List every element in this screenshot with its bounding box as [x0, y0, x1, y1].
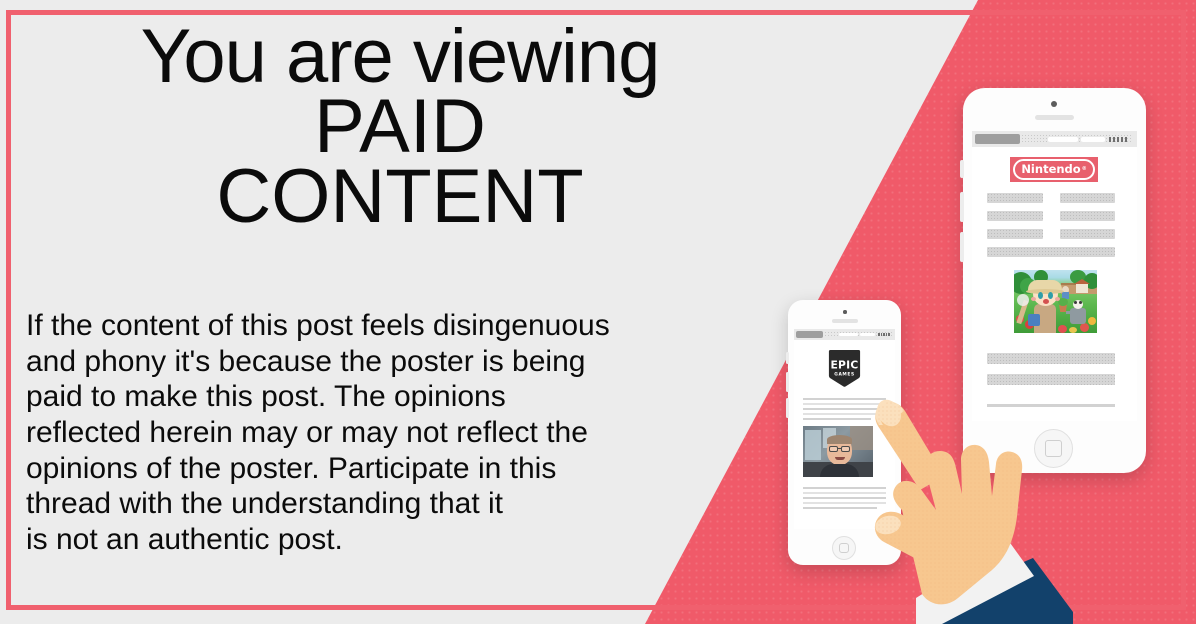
phone-speaker-grill [1035, 115, 1074, 120]
browser-chrome-bar[interactable] [972, 131, 1137, 147]
browser-url-pill[interactable] [860, 333, 875, 337]
phone-side-button[interactable] [960, 192, 964, 222]
signal-bars-icon [881, 333, 883, 336]
signal-bars-icon [1121, 137, 1123, 142]
body-line: opinions of the poster. Participate in t… [26, 451, 726, 487]
nintendo-logo-registered-mark: ® [1082, 167, 1087, 172]
body-line: is not an authentic post. [26, 522, 726, 558]
phone-speaker-grill [832, 319, 858, 323]
phone-home-square-icon [839, 543, 849, 553]
content-placeholder-bar [1060, 229, 1115, 239]
body-line: If the content of this post feels dising… [26, 308, 726, 344]
signal-bars-icon [1117, 137, 1119, 142]
phone-side-button[interactable] [960, 232, 964, 262]
nintendo-logo-pill: Nintendo® [1013, 159, 1095, 180]
pointing-hand [858, 398, 1118, 624]
signal-bars-icon [883, 333, 885, 336]
pointing-hand-icon [858, 398, 1118, 624]
content-placeholder-bar [987, 193, 1043, 203]
browser-url-pill[interactable] [1048, 137, 1078, 142]
browser-active-tab[interactable] [975, 134, 1020, 144]
content-placeholder-bar [987, 247, 1115, 257]
svg-text:GAMES: GAMES [834, 371, 854, 377]
signal-bars-icon [1125, 137, 1127, 142]
svg-text:EPIC: EPIC [831, 358, 859, 371]
content-placeholder-bar [987, 374, 1115, 385]
content-placeholder-bar [1060, 193, 1115, 203]
body-line: thread with the understanding that it [26, 486, 726, 522]
disclaimer-body-text: If the content of this post feels dising… [26, 308, 726, 558]
signal-bars-icon [886, 333, 888, 336]
signal-bars-icon [1113, 137, 1115, 142]
body-line: reflected herein may or may not reflect … [26, 415, 726, 451]
content-placeholder-bar [987, 229, 1043, 239]
content-placeholder-bar [1060, 211, 1115, 221]
paid-content-poster: You are viewing PAID CONTENT If the cont… [0, 0, 1196, 624]
browser-active-tab[interactable] [796, 331, 823, 338]
content-placeholder-bar [987, 211, 1043, 221]
content-placeholder-bar [987, 353, 1115, 364]
body-line: paid to make this post. The opinions [26, 379, 726, 415]
browser-url-pill[interactable] [839, 333, 858, 337]
phone-camera-icon [1051, 101, 1057, 107]
headline-line-2: PAID [0, 92, 800, 162]
headline-line-1: You are viewing [0, 22, 800, 92]
epic-games-logo: EPIC GAMES [828, 349, 861, 387]
nintendo-logo-text: Nintendo [1021, 164, 1080, 176]
signal-bars-icon [888, 333, 890, 336]
nintendo-phone-screen[interactable]: Nintendo® [972, 131, 1137, 421]
signal-bars-icon [878, 333, 880, 336]
phone-side-button[interactable] [960, 160, 964, 178]
page-title: You are viewing PAID CONTENT [0, 22, 800, 232]
text-area: You are viewing PAID CONTENT If the cont… [0, 0, 800, 624]
headline-line-3: CONTENT [0, 162, 800, 232]
animal-crossing-artwork-image[interactable] [1014, 270, 1097, 333]
epic-games-shield-icon: EPIC GAMES [828, 349, 861, 387]
body-line: and phony it's because the poster is bei… [26, 344, 726, 380]
signal-bars-icon [1109, 137, 1111, 142]
nintendo-logo: Nintendo® [1010, 157, 1098, 182]
browser-url-pill[interactable] [1081, 137, 1105, 142]
phone-camera-icon [843, 310, 847, 314]
browser-chrome-bar[interactable] [794, 329, 895, 340]
